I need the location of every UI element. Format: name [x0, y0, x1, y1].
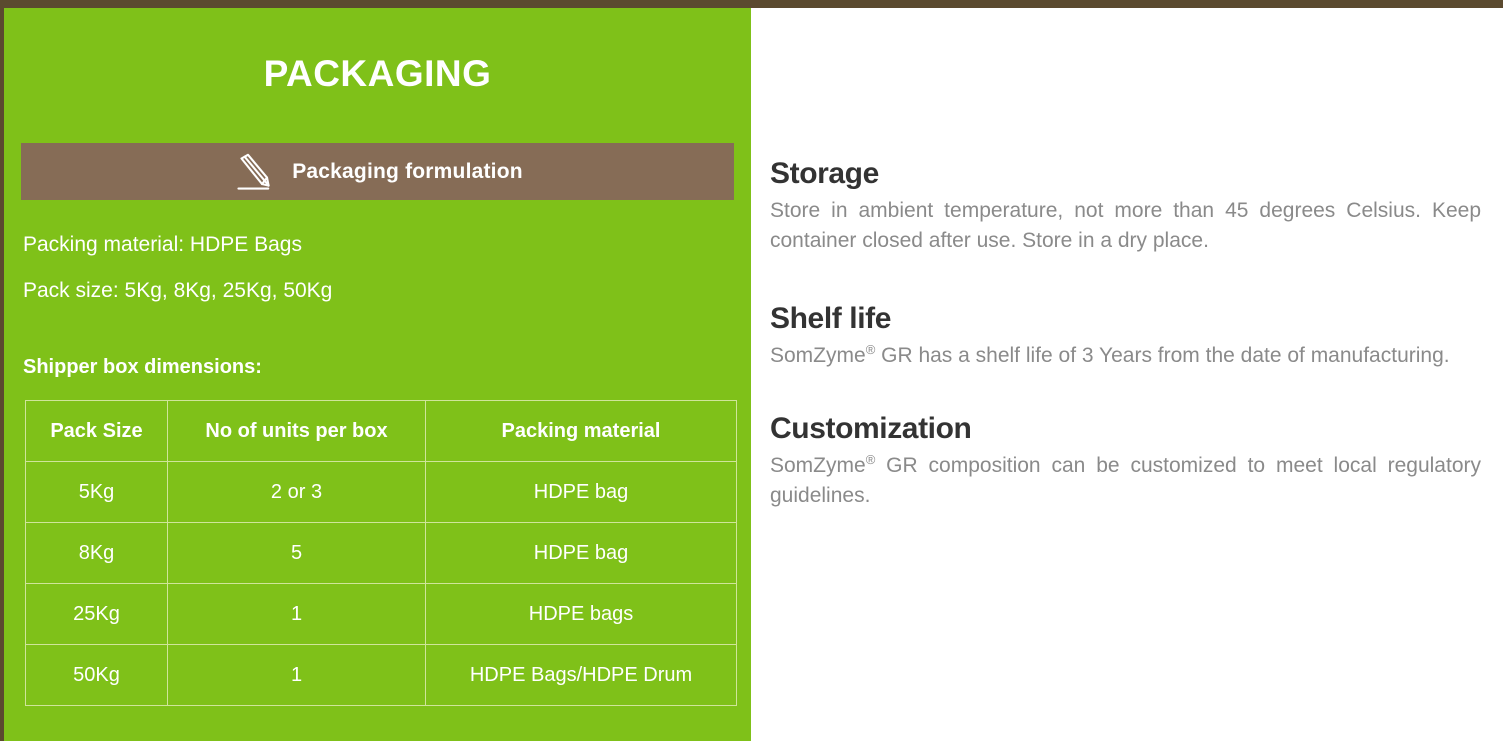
- table-row: 8Kg 5 HDPE bag: [26, 523, 737, 584]
- shelf-life-heading: Shelf life: [770, 302, 1481, 335]
- section-storage: Storage Store in ambient temperature, no…: [770, 157, 1481, 256]
- pack-size-line: Pack size: 5Kg, 8Kg, 25Kg, 50Kg: [23, 279, 723, 303]
- shipper-box-dimensions-heading: Shipper box dimensions:: [23, 356, 262, 379]
- table-row: 25Kg 1 HDPE bags: [26, 584, 737, 645]
- table-header-row: Pack Size No of units per box Packing ma…: [26, 401, 737, 462]
- customization-heading: Customization: [770, 412, 1481, 445]
- cell-material: HDPE Bags/HDPE Drum: [426, 645, 737, 706]
- cell-units: 1: [168, 584, 426, 645]
- table-row: 50Kg 1 HDPE Bags/HDPE Drum: [26, 645, 737, 706]
- info-panel: Storage Store in ambient temperature, no…: [751, 8, 1503, 741]
- cell-pack-size: 50Kg: [26, 645, 168, 706]
- table-header-pack-size: Pack Size: [26, 401, 168, 462]
- brand-name: SomZyme: [770, 344, 866, 367]
- shipper-box-table: Pack Size No of units per box Packing ma…: [25, 400, 737, 706]
- table-row: 5Kg 2 or 3 HDPE bag: [26, 462, 737, 523]
- cell-units: 5: [168, 523, 426, 584]
- cell-material: HDPE bag: [426, 462, 737, 523]
- shelf-life-body: SomZyme® GR has a shelf life of 3 Years …: [770, 341, 1481, 371]
- page-title: PACKAGING: [4, 55, 751, 94]
- packaging-formulation-bar: Packaging formulation: [21, 143, 734, 200]
- pencil-icon: [232, 150, 276, 194]
- cell-pack-size: 8Kg: [26, 523, 168, 584]
- packing-details: Packing material: HDPE Bags Pack size: 5…: [23, 233, 723, 325]
- cell-units: 1: [168, 645, 426, 706]
- storage-body: Store in ambient temperature, not more t…: [770, 196, 1481, 256]
- registered-mark: ®: [866, 452, 876, 467]
- table-header-units-per-box: No of units per box: [168, 401, 426, 462]
- packaging-formulation-label: Packaging formulation: [292, 160, 523, 184]
- cell-material: HDPE bags: [426, 584, 737, 645]
- section-shelf-life: Shelf life SomZyme® GR has a shelf life …: [770, 302, 1481, 371]
- cell-material: HDPE bag: [426, 523, 737, 584]
- storage-body-text: Store in ambient temperature, not more t…: [770, 199, 1481, 252]
- cell-pack-size: 5Kg: [26, 462, 168, 523]
- packaging-panel: PACKAGING Packaging formulation Packing: [4, 8, 751, 741]
- cell-units: 2 or 3: [168, 462, 426, 523]
- top-border-strip: [0, 0, 1503, 8]
- storage-heading: Storage: [770, 157, 1481, 190]
- packing-material-line: Packing material: HDPE Bags: [23, 233, 723, 257]
- registered-mark: ®: [866, 342, 876, 357]
- customization-body-text: GR composition can be customized to meet…: [770, 454, 1481, 507]
- shelf-life-body-text: GR has a shelf life of 3 Years from the …: [875, 344, 1449, 367]
- brand-name: SomZyme: [770, 454, 866, 477]
- table-header-packing-material: Packing material: [426, 401, 737, 462]
- cell-pack-size: 25Kg: [26, 584, 168, 645]
- customization-body: SomZyme® GR composition can be customize…: [770, 451, 1481, 511]
- packaging-page: PACKAGING Packaging formulation Packing: [0, 0, 1503, 741]
- section-customization: Customization SomZyme® GR composition ca…: [770, 412, 1481, 511]
